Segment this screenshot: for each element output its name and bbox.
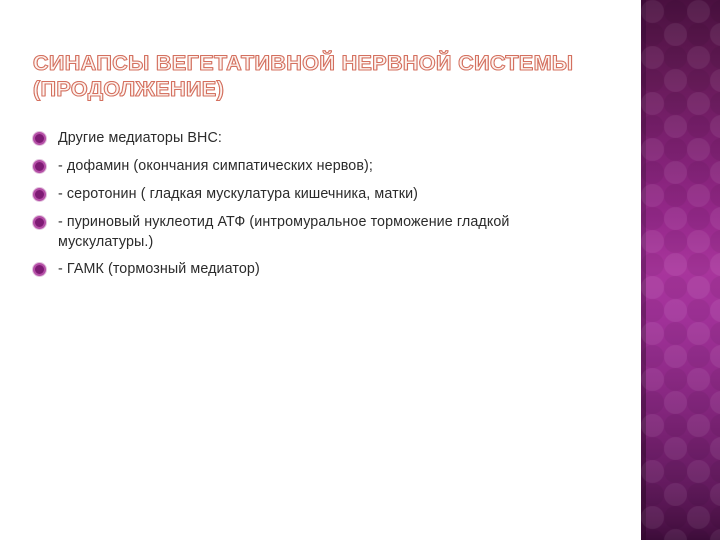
list-item: - серотонин ( гладкая мускулатура кишечн…	[33, 184, 593, 205]
slide-title: Синапсы вегетативной нервной системы (пр…	[33, 50, 613, 102]
bullet-ring-icon	[33, 212, 58, 233]
list-item-label: - серотонин ( гладкая мускулатура кишечн…	[58, 184, 593, 204]
bullet-list: Другие медиаторы ВНС: - дофамин (окончан…	[33, 128, 593, 287]
band-edge-stripe	[641, 0, 646, 540]
bullet-ring-icon	[33, 259, 58, 280]
list-item-label: - ГАМК (тормозный медиатор)	[58, 259, 593, 279]
band-honeycomb-texture	[641, 0, 720, 540]
slide-canvas: Синапсы вегетативной нервной системы (пр…	[0, 0, 720, 540]
list-item-label: - дофамин (окончания симпатических нерво…	[58, 156, 593, 176]
list-item: - дофамин (окончания симпатических нерво…	[33, 156, 593, 177]
right-gradient-band	[641, 0, 720, 540]
bullet-ring-icon	[33, 128, 58, 149]
list-item: - пуриновый нуклеотид АТФ (интромурально…	[33, 212, 593, 252]
list-item: Другие медиаторы ВНС:	[33, 128, 593, 149]
bullet-ring-icon	[33, 184, 58, 205]
list-item: - ГАМК (тормозный медиатор)	[33, 259, 593, 280]
list-item-label: Другие медиаторы ВНС:	[58, 128, 593, 148]
list-item-label: - пуриновый нуклеотид АТФ (интромурально…	[58, 212, 593, 252]
bullet-ring-icon	[33, 156, 58, 177]
